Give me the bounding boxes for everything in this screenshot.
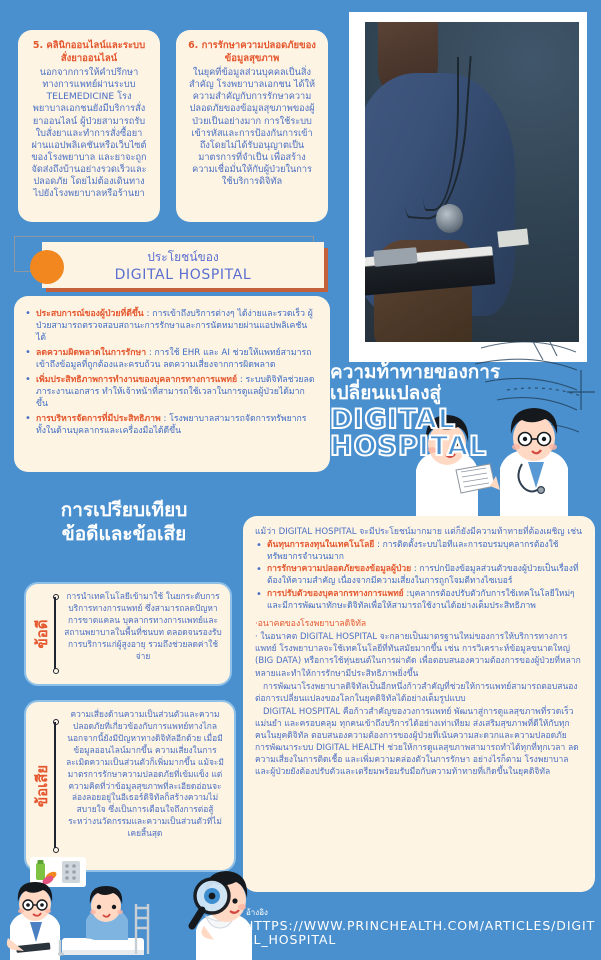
challenge-lead: การรักษาความปลอดภัยของข้อมูลผู้ป่วย — [267, 564, 411, 574]
list-item: ลดความผิดพลาดในการรักษา : การใช้ EHR และ… — [24, 347, 316, 371]
challenges-heading-line-2: เปลี่ยนแปลงสู่ — [330, 383, 590, 404]
challenges-intro: แม้ว่า DIGITAL HOSPITAL จะมีประโยชน์มากม… — [255, 526, 583, 538]
future-paragraph-2: การพัฒนาโรงพยาบาลดิจิทัลเป็นอีกหนึ่งก้าว… — [255, 681, 583, 705]
list-item: การปรับตัวของบุคลากรทางการแพทย์ :บุคลากร… — [255, 589, 583, 612]
benefit-lead: ประสบการณ์ของผู้ป่วยที่ดีขึ้น — [36, 309, 144, 319]
challenges-heading-line-1: ความท้าทายของการ — [330, 362, 590, 383]
pros-text: การนำเทคโนโลยีเข้ามาใช้ ในยกระดับการบริก… — [64, 591, 222, 678]
challenge-lead: ต้นทุนการลงทุนในเทคโนโลยี — [267, 540, 374, 550]
challenges-text-card: แม้ว่า DIGITAL HOSPITAL จะมีประโยชน์มากม… — [243, 516, 595, 892]
nurse-with-magnifier-illustration — [178, 868, 270, 960]
cons-text: ความเสี่ยงด้านความเป็นส่วนตัวและความปลอด… — [64, 709, 226, 864]
info-card-6: 6. การรักษาความปลอดภัยของข้อมูลสุขภาพ ใน… — [176, 30, 328, 222]
benefits-list: ประสบการณ์ของผู้ป่วยที่ดีขึ้น : การเข้าถ… — [24, 308, 316, 437]
list-item: ประสบการณ์ของผู้ป่วยที่ดีขึ้น : การเข้าถ… — [24, 308, 316, 344]
info-card-5-body: นอกจากการให้คำปรึกษาทางการแพทย์ผ่านระบบ … — [30, 67, 148, 201]
benefits-list-card: ประสบการณ์ของผู้ป่วยที่ดีขึ้น : การเข้าถ… — [14, 296, 330, 472]
doctor-photo — [365, 22, 579, 342]
pros-box: ข้อดี การนำเทคโนโลยีเข้ามาใช้ ในยกระดับก… — [24, 582, 232, 686]
infographic-page: 5. คลินิกออนไลน์และระบบสั่งยาออนไลน์ นอก… — [0, 0, 601, 960]
info-card-5-title: 5. คลินิกออนไลน์และระบบสั่งยาออนไลน์ — [30, 40, 148, 65]
info-card-6-title: 6. การรักษาความปลอดภัยของข้อมูลสุขภาพ — [188, 40, 316, 65]
future-paragraph-3: DIGITAL HOSPITAL คือก้าวสำคัญของวงการแพท… — [255, 706, 583, 778]
list-item: การรักษาความปลอดภัยของข้อมูลผู้ป่วย : กา… — [255, 564, 583, 587]
future-paragraph-1: · ในอนาคต DIGITAL HOSPITAL จะกลายเป็นมาต… — [255, 631, 583, 679]
list-item: ต้นทุนการลงทุนในเทคโนโลยี : การติดตั้งระ… — [255, 540, 583, 563]
benefit-lead: การบริหารจัดการที่มีประสิทธิภาพ — [36, 414, 161, 424]
benefit-lead: ลดความผิดพลาดในการรักษา — [36, 348, 146, 358]
challenges-heading: ความท้าทายของการ เปลี่ยนแปลงสู่ DIGITAL … — [330, 362, 590, 460]
info-card-5: 5. คลินิกออนไลน์และระบบสั่งยาออนไลน์ นอก… — [18, 30, 160, 222]
cons-rule-decoration — [50, 719, 59, 853]
list-item: การบริหารจัดการที่มีประสิทธิภาพ : โรงพยา… — [24, 413, 316, 437]
plaque-line-1: ประโยชน์ของ — [147, 248, 219, 267]
comparison-heading-line-1: การเปรียบเทียบ — [10, 498, 238, 522]
future-subheading: ·อนาคตของโรงพยาบาลดิจิทัล — [255, 616, 583, 630]
doctor-photo-frame — [349, 12, 587, 362]
challenges-heading-line-3: DIGITAL — [330, 406, 590, 433]
benefits-title-plaque: ประโยชน์ของ DIGITAL HOSPITAL — [14, 236, 330, 292]
patient-in-bed-illustration — [56, 884, 152, 960]
challenges-heading-line-4: HOSPITAL — [330, 433, 590, 460]
info-card-6-body: ในยุคที่ข้อมูลส่วนบุคคลเป็นสิ่งสำคัญ โรง… — [188, 67, 316, 188]
challenge-lead: การปรับตัวของบุคลากรทางการแพทย์ — [267, 589, 404, 599]
pros-rule-decoration — [50, 594, 59, 674]
comparison-heading: การเปรียบเทียบ ข้อดีและข้อเสีย — [10, 498, 238, 547]
reference-url[interactable]: HTTPS://WWW.PRINCHEALTH.COM/ARTICLES/DIG… — [244, 919, 600, 948]
footer: อ้างอิง HTTPS://WWW.PRINCHEALTH.COM/ARTI… — [244, 906, 600, 948]
plaque-body: ประโยชน์ของ DIGITAL HOSPITAL — [42, 242, 324, 288]
cons-box: ข้อเสีย ความเสี่ยงด้านความเป็นส่วนตัวและ… — [24, 700, 236, 872]
photo-sleeve-tag — [497, 228, 528, 247]
challenges-list: ต้นทุนการลงทุนในเทคโนโลยี : การติดตั้งระ… — [255, 540, 583, 612]
comparison-heading-line-2: ข้อดีและข้อเสีย — [10, 522, 238, 546]
benefit-lead: เพิ่มประสิทธิภาพการทำงานของบุคลากรทางการ… — [36, 375, 237, 385]
list-item: เพิ่มประสิทธิภาพการทำงานของบุคลากรทางการ… — [24, 374, 316, 410]
plaque-line-2: DIGITAL HOSPITAL — [115, 267, 252, 283]
orange-circle-decoration — [30, 250, 64, 284]
